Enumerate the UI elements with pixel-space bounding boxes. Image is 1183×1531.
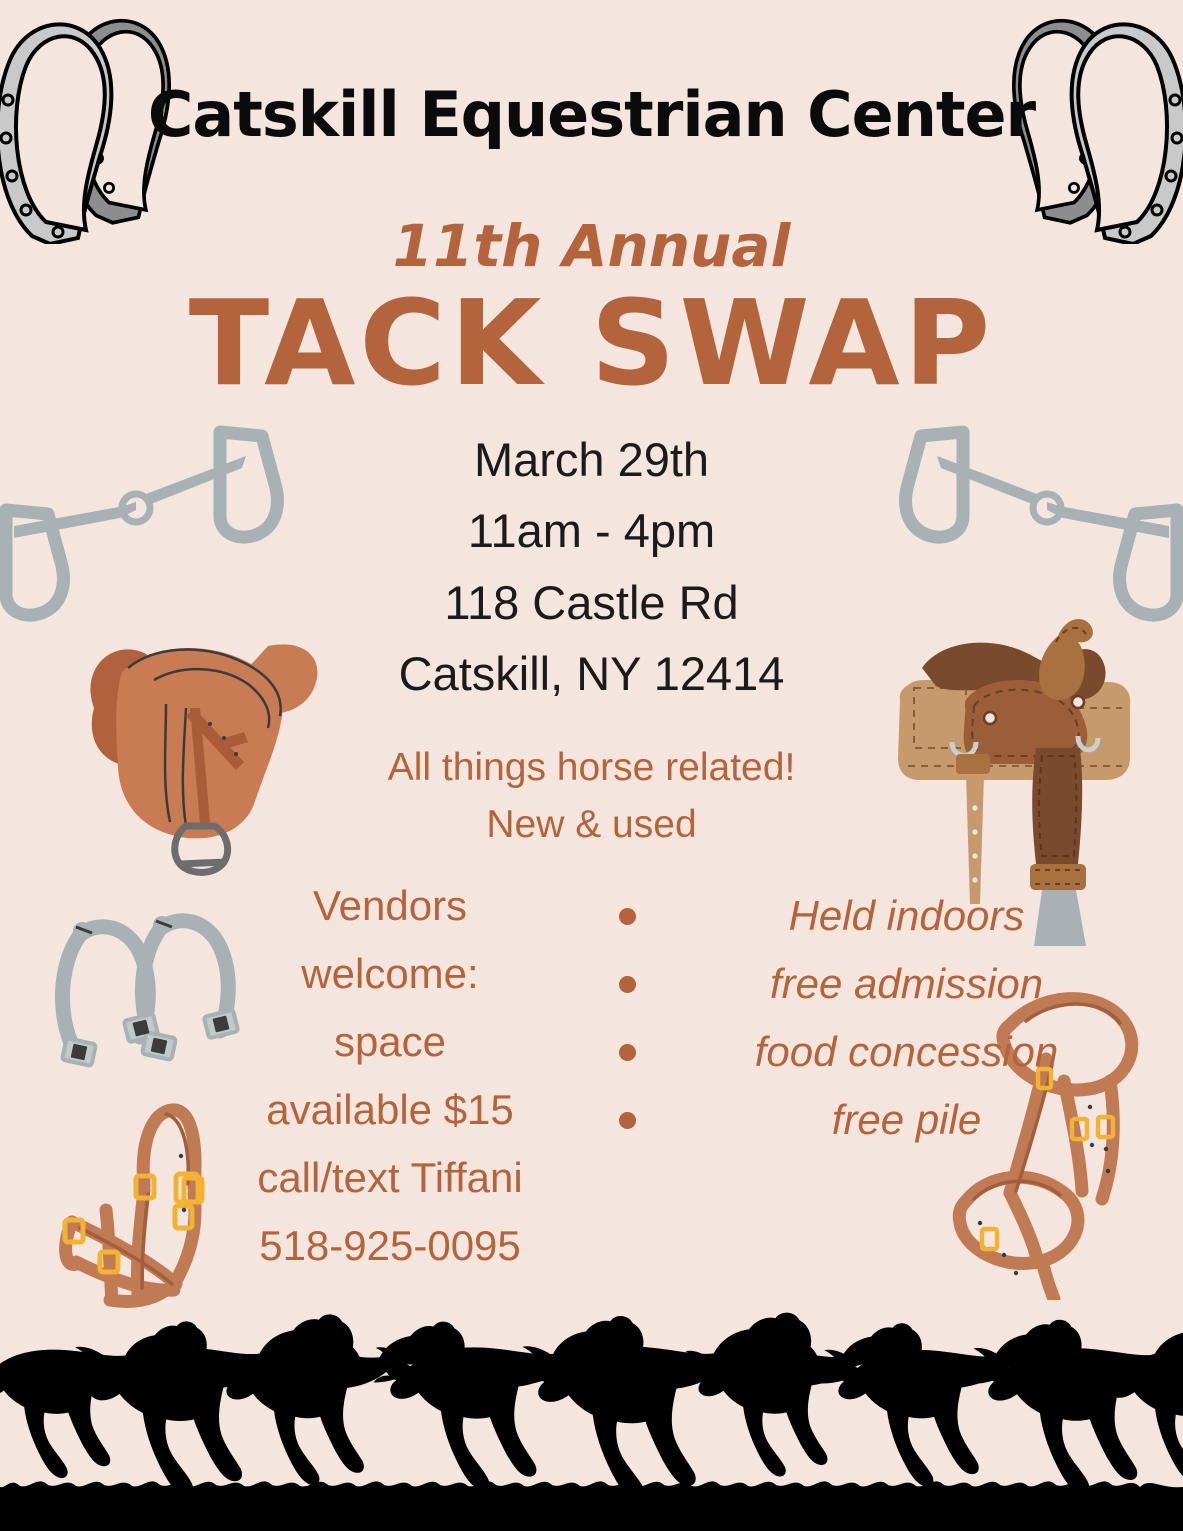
lower-section: Vendors welcome: space available $15 cal… (0, 872, 1183, 1280)
organization-title: Catskill Equestrian Center (0, 78, 1183, 151)
list-item: free admission (610, 950, 1183, 1018)
tack-swap-flyer: Catskill Equestrian Center 11th Annual T… (0, 0, 1183, 1531)
list-item: Held indoors (610, 882, 1183, 950)
event-date: March 29th (0, 424, 1183, 495)
bullet-icon (610, 908, 644, 925)
bullet-icon (610, 1112, 644, 1129)
list-item: food concession (610, 1018, 1183, 1086)
feature-label: free pile (644, 1096, 1183, 1144)
vendor-line-3: space (180, 1008, 600, 1076)
list-item: free pile (610, 1086, 1183, 1154)
bullet-icon (610, 976, 644, 993)
vendor-info: Vendors welcome: space available $15 cal… (180, 872, 600, 1280)
vendor-line-4: available $15 (180, 1076, 600, 1144)
tagline-line-1: All things horse related! (0, 740, 1183, 797)
vendor-line-2: welcome: (180, 940, 600, 1008)
vendor-line-5: call/text Tiffani (180, 1144, 600, 1212)
vendor-line-1: Vendors (180, 872, 600, 940)
tagline-line-2: New & used (0, 797, 1183, 854)
feature-label: free admission (644, 960, 1183, 1008)
event-title: TACK SWAP (0, 282, 1183, 406)
event-street: 118 Castle Rd (0, 567, 1183, 638)
feature-label: Held indoors (644, 892, 1183, 940)
tagline: All things horse related! New & used (0, 740, 1183, 853)
edition-subtitle: 11th Annual (0, 212, 1183, 280)
event-details: March 29th 11am - 4pm 118 Castle Rd Cats… (0, 424, 1183, 710)
event-city-zip: Catskill, NY 12414 (0, 638, 1183, 709)
bullet-icon (610, 1044, 644, 1061)
feature-label: food concession (644, 1028, 1183, 1076)
features-list: Held indoors free admission food concess… (610, 882, 1183, 1154)
event-time: 11am - 4pm (0, 495, 1183, 566)
vendor-phone: 518-925-0095 (180, 1212, 600, 1280)
